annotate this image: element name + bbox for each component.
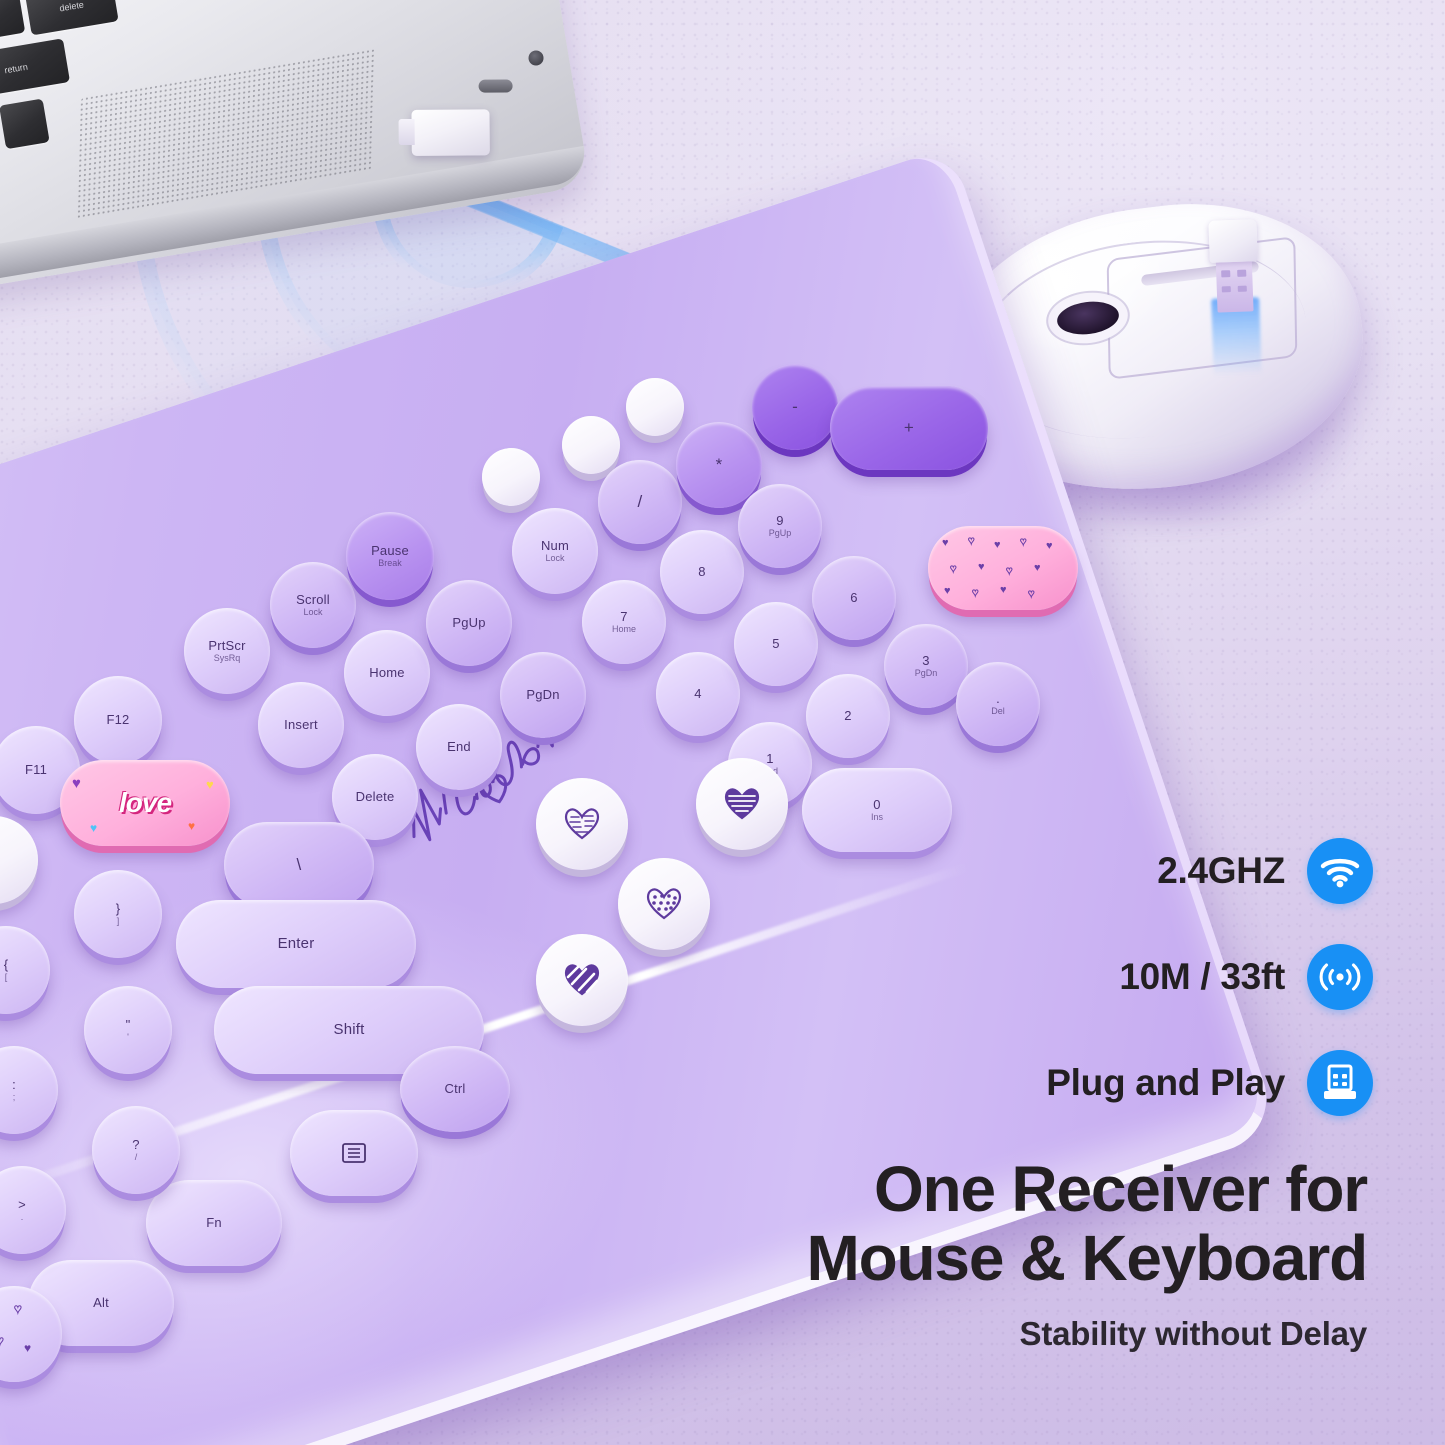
keyboard-key-num7[interactable]: 7Home — [582, 580, 666, 664]
headline-line-1: One Receiver for — [807, 1155, 1367, 1224]
keyboard-key-plus-equals[interactable]: += — [0, 816, 38, 904]
heart-dotted-icon — [646, 887, 682, 921]
keyboard-key-colon[interactable]: :; — [0, 1046, 58, 1134]
keyboard-key-plus[interactable]: + — [830, 386, 988, 470]
heart-enter-keycap[interactable]: ♥ ♥ ♥ ♥ ♥ ♥ ♥ ♥ ♥ ♥ ♥ ♥ ♥ — [928, 526, 1078, 610]
headline-block: One Receiver for Mouse & Keyboard Stabil… — [807, 1155, 1367, 1353]
feature-range: 10M / 33ft — [1043, 924, 1373, 1030]
keyboard-key-minus[interactable]: - — [752, 364, 838, 450]
love-keycap[interactable]: love ♥ ♥ ♥ ♥ — [60, 760, 230, 846]
feature-list: 2.4GHZ 10M / 33ft — [1043, 818, 1373, 1136]
keyboard-key-arrow-right[interactable] — [696, 758, 788, 850]
keyboard-key-num-decimal[interactable]: .Del — [956, 662, 1040, 746]
receiver-plastic-cap — [1208, 219, 1257, 263]
feature-2-4ghz: 2.4GHZ — [1043, 818, 1373, 924]
heart-pattern-keycap[interactable]: ♥ ♥ ♥ ♥ ♥ — [0, 1286, 62, 1382]
signal-waves-icon — [1307, 944, 1373, 1010]
wifi-icon — [1307, 838, 1373, 904]
keyboard-key-right-brace[interactable]: }] — [74, 870, 162, 958]
laptop-key-equals — [0, 0, 25, 41]
keyboard-key-f12[interactable]: F12 — [74, 676, 162, 764]
laptop-headphone-jack — [528, 50, 543, 65]
menu-icon — [341, 1142, 367, 1164]
heart-pattern: ♥ ♥ ♥ ♥ ♥ — [0, 1286, 62, 1382]
laptop-key-return: return — [0, 38, 70, 98]
keyboard-key-question[interactable]: ?/ — [92, 1106, 180, 1194]
keyboard-key-greater-than[interactable]: >. — [0, 1166, 66, 1254]
heart-diagonal-stripe-icon — [564, 963, 600, 997]
love-keycap-label: love — [119, 789, 171, 818]
receiver-metal-connector — [1216, 259, 1254, 312]
keyboard-key-backslash[interactable]: \ — [224, 822, 374, 908]
keyboard-key-pgdn-nav[interactable]: PgDn — [500, 652, 586, 738]
keyboard-key-num2[interactable]: 2 — [806, 674, 890, 758]
keyboard-key-arrow-left[interactable] — [536, 934, 628, 1026]
keyboard-key-white-1[interactable] — [482, 448, 540, 506]
keyboard-key-menu[interactable] — [290, 1110, 418, 1196]
keyboard-key-num0[interactable]: 0Ins — [802, 768, 952, 852]
keyboard-key-num9[interactable]: 9PgUp — [738, 484, 822, 568]
heart-pattern: ♥ ♥ ♥ ♥ ♥ ♥ ♥ ♥ ♥ ♥ ♥ ♥ ♥ — [928, 526, 1078, 610]
keyboard-key-arrow-down[interactable] — [618, 858, 710, 950]
feature-label: 10M / 33ft — [1119, 956, 1285, 998]
usb-receiver-plugged — [411, 109, 489, 156]
keyboard-key-quote[interactable]: "' — [84, 986, 172, 1074]
laptop-key-arrow-up — [0, 99, 50, 150]
headline-subline: Stability without Delay — [807, 1315, 1367, 1353]
laptop-usb-port — [479, 79, 513, 92]
keyboard-key-end[interactable]: End — [416, 704, 502, 790]
keyboard-key-enter[interactable]: Enter — [176, 900, 416, 988]
keyboard-key-num8[interactable]: 8 — [660, 530, 744, 614]
laptop-key-delete: delete — [25, 0, 119, 35]
keyboard-key-pause-break[interactable]: PauseBreak — [346, 512, 434, 600]
headline-line-2: Mouse & Keyboard — [807, 1224, 1367, 1293]
feature-label: 2.4GHZ — [1157, 850, 1285, 892]
keyboard-key-arrow-up[interactable] — [536, 778, 628, 870]
usb-dongle-icon — [1307, 1050, 1373, 1116]
heart-lined-icon — [724, 787, 760, 821]
keyboard-key-left-brace[interactable]: {[ — [0, 926, 50, 1014]
product-marketing-image: F10 F11 F12 O P delete return shift — [0, 0, 1445, 1445]
feature-label: Plug and Play — [1046, 1062, 1285, 1104]
feature-plug-and-play: Plug and Play — [1043, 1030, 1373, 1136]
heart-striped-icon — [564, 807, 600, 841]
